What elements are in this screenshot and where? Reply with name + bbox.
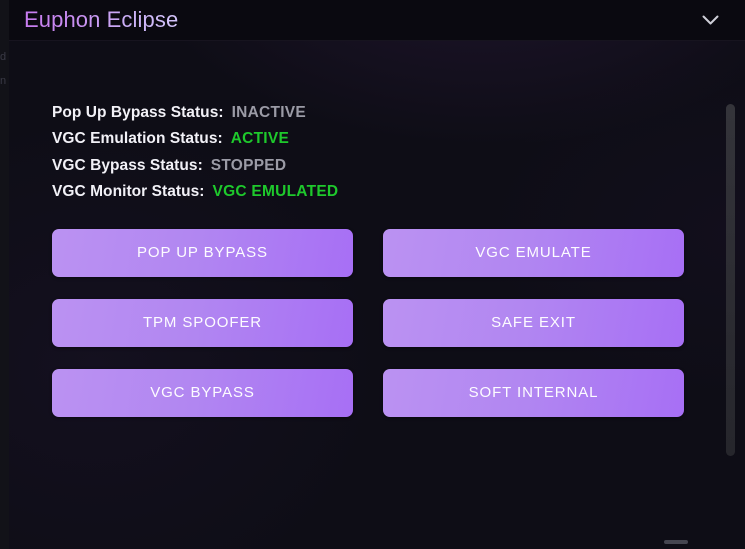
panel-content: Pop Up Bypass Status: INACTIVE VGC Emula…	[9, 103, 745, 417]
status-badge: VGC EMULATED	[213, 182, 339, 202]
status-row-vgc-emulation: VGC Emulation Status: ACTIVE	[52, 129, 685, 149]
pop-up-bypass-button[interactable]: POP UP BYPASS	[52, 229, 353, 277]
status-badge: ACTIVE	[231, 129, 289, 149]
status-label: VGC Bypass Status:	[52, 156, 203, 176]
status-row-vgc-monitor: VGC Monitor Status: VGC EMULATED	[52, 182, 685, 202]
backdrop-ghost-text-1: d	[0, 52, 9, 63]
backdrop-ghost-text-2: n	[0, 76, 9, 87]
action-button-grid: POP UP BYPASS VGC EMULATE TPM SPOOFER SA…	[52, 229, 685, 417]
scrollbar-track[interactable]	[726, 104, 735, 456]
chevron-down-icon[interactable]	[697, 7, 723, 33]
soft-internal-button[interactable]: SOFT INTERNAL	[383, 369, 684, 417]
vgc-bypass-button[interactable]: VGC BYPASS	[52, 369, 353, 417]
status-label: VGC Monitor Status:	[52, 182, 205, 202]
tpm-spoofer-button[interactable]: TPM SPOOFER	[52, 299, 353, 347]
status-row-popup-bypass: Pop Up Bypass Status: INACTIVE	[52, 103, 685, 123]
euphon-eclipse-panel: Euphon Eclipse Pop Up Bypass Status: INA…	[9, 0, 745, 549]
page-title: Euphon Eclipse	[24, 9, 178, 31]
panel-body: Pop Up Bypass Status: INACTIVE VGC Emula…	[9, 41, 745, 549]
scrollbar-thumb[interactable]	[726, 104, 735, 456]
status-list: Pop Up Bypass Status: INACTIVE VGC Emula…	[52, 103, 685, 203]
vgc-emulate-button[interactable]: VGC EMULATE	[383, 229, 684, 277]
status-badge: INACTIVE	[232, 103, 306, 123]
bottom-edge-artifact	[664, 540, 688, 544]
safe-exit-button[interactable]: SAFE EXIT	[383, 299, 684, 347]
status-label: Pop Up Bypass Status:	[52, 103, 224, 123]
status-row-vgc-bypass: VGC Bypass Status: STOPPED	[52, 156, 685, 176]
status-badge: STOPPED	[211, 156, 287, 176]
panel-header: Euphon Eclipse	[9, 0, 745, 41]
status-label: VGC Emulation Status:	[52, 129, 223, 149]
